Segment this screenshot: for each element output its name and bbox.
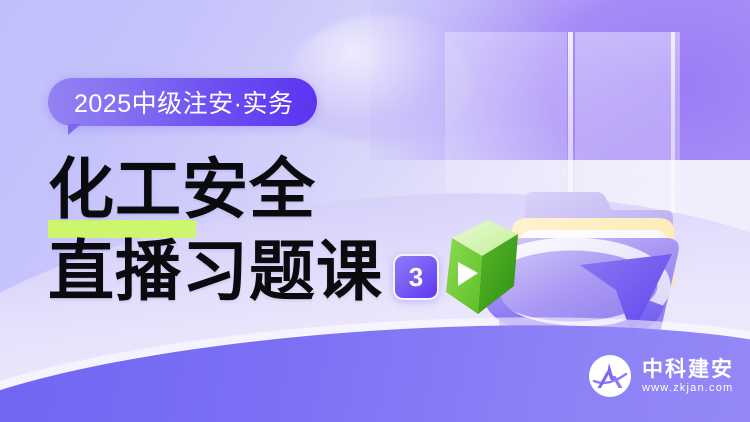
course-tag-tail-icon xyxy=(68,124,81,135)
course-promo-banner: 2025中级注安·实务 化工安全 直播习题课 3 中科建安 www.zkjan.… xyxy=(0,0,750,422)
folder-documents-refresh-arrow-illustration xyxy=(420,110,730,360)
course-tag-badge: 2025中级注安·实务 xyxy=(48,78,317,126)
course-tag-label: 2025中级注安·实务 xyxy=(48,78,317,126)
brand-name: 中科建安 xyxy=(642,359,734,380)
brand-logo-text: 中科建安 www.zkjan.com xyxy=(642,359,734,394)
headline-line-2-row: 直播习题课 3 xyxy=(48,234,439,310)
zkjan-circle-logo-icon xyxy=(588,354,632,398)
headline-block: 化工安全 直播习题课 3 xyxy=(48,152,439,310)
brand-url: www.zkjan.com xyxy=(642,383,734,394)
episode-number-badge: 3 xyxy=(393,254,439,300)
headline-line-1-row: 化工安全 xyxy=(48,152,439,228)
headline-line-1: 化工安全 xyxy=(48,152,316,228)
brand-logo: 中科建安 www.zkjan.com xyxy=(588,354,734,398)
headline-line-2: 直播习题课 xyxy=(48,234,383,310)
